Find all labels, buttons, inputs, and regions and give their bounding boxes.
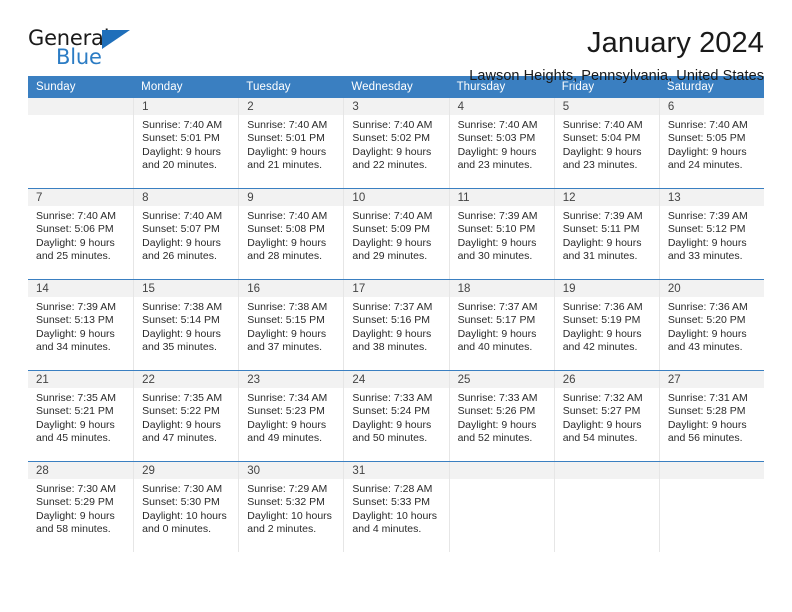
daylight-text-cont: and 23 minutes. <box>458 159 548 172</box>
calendar-cell: 9Sunrise: 7:40 AMSunset: 5:08 PMDaylight… <box>238 189 343 280</box>
day-details <box>450 479 554 483</box>
calendar-day[interactable]: 17Sunrise: 7:37 AMSunset: 5:16 PMDayligh… <box>343 280 448 370</box>
daylight-text: Daylight: 9 hours <box>352 328 442 341</box>
daylight-text: Daylight: 9 hours <box>668 328 758 341</box>
day-number: 9 <box>239 189 343 206</box>
sunset-text: Sunset: 5:14 PM <box>142 314 232 327</box>
daylight-text: Daylight: 9 hours <box>352 146 442 159</box>
calendar-cell: 15Sunrise: 7:38 AMSunset: 5:14 PMDayligh… <box>133 280 238 371</box>
sunset-text: Sunset: 5:07 PM <box>142 223 232 236</box>
day-number: 23 <box>239 371 343 388</box>
calendar-day[interactable]: 15Sunrise: 7:38 AMSunset: 5:14 PMDayligh… <box>133 280 238 370</box>
daylight-text: Daylight: 9 hours <box>142 146 232 159</box>
calendar-day[interactable]: 12Sunrise: 7:39 AMSunset: 5:11 PMDayligh… <box>554 189 659 279</box>
calendar-cell: 23Sunrise: 7:34 AMSunset: 5:23 PMDayligh… <box>238 371 343 462</box>
calendar-cell: 22Sunrise: 7:35 AMSunset: 5:22 PMDayligh… <box>133 371 238 462</box>
daylight-text: Daylight: 9 hours <box>142 237 232 250</box>
day-number: 1 <box>134 98 238 115</box>
daylight-text: Daylight: 9 hours <box>458 237 548 250</box>
sunset-text: Sunset: 5:01 PM <box>142 132 232 145</box>
day-details: Sunrise: 7:40 AMSunset: 5:05 PMDaylight:… <box>660 115 764 173</box>
calendar-day[interactable]: 5Sunrise: 7:40 AMSunset: 5:04 PMDaylight… <box>554 98 659 188</box>
calendar-day[interactable]: 22Sunrise: 7:35 AMSunset: 5:22 PMDayligh… <box>133 371 238 461</box>
day-number: 2 <box>239 98 343 115</box>
calendar-cell: 4Sunrise: 7:40 AMSunset: 5:03 PMDaylight… <box>449 98 554 189</box>
daylight-text-cont: and 35 minutes. <box>142 341 232 354</box>
sunrise-text: Sunrise: 7:39 AM <box>668 210 758 223</box>
daylight-text-cont: and 40 minutes. <box>458 341 548 354</box>
day-number: 3 <box>344 98 448 115</box>
sunrise-text: Sunrise: 7:39 AM <box>458 210 548 223</box>
daylight-text: Daylight: 9 hours <box>36 419 127 432</box>
calendar-day[interactable]: 10Sunrise: 7:40 AMSunset: 5:09 PMDayligh… <box>343 189 448 279</box>
daylight-text-cont: and 31 minutes. <box>563 250 653 263</box>
page-title: January 2024 <box>148 26 764 60</box>
triangle-icon <box>102 30 130 49</box>
day-number: 30 <box>239 462 343 479</box>
sunset-text: Sunset: 5:20 PM <box>668 314 758 327</box>
daylight-text-cont: and 24 minutes. <box>668 159 758 172</box>
daylight-text-cont: and 34 minutes. <box>36 341 127 354</box>
day-details <box>555 479 659 483</box>
calendar-cell <box>449 462 554 553</box>
calendar-day[interactable]: 25Sunrise: 7:33 AMSunset: 5:26 PMDayligh… <box>449 371 554 461</box>
calendar-day[interactable]: 6Sunrise: 7:40 AMSunset: 5:05 PMDaylight… <box>659 98 764 188</box>
calendar-cell: 5Sunrise: 7:40 AMSunset: 5:04 PMDaylight… <box>554 98 659 189</box>
sunset-text: Sunset: 5:11 PM <box>563 223 653 236</box>
day-details: Sunrise: 7:39 AMSunset: 5:10 PMDaylight:… <box>450 206 554 264</box>
daylight-text: Daylight: 9 hours <box>247 146 337 159</box>
day-number: 27 <box>660 371 764 388</box>
calendar-day-empty <box>28 98 133 188</box>
day-details: Sunrise: 7:40 AMSunset: 5:06 PMDaylight:… <box>28 206 133 264</box>
daylight-text: Daylight: 10 hours <box>247 510 337 523</box>
calendar-day[interactable]: 21Sunrise: 7:35 AMSunset: 5:21 PMDayligh… <box>28 371 133 461</box>
sunset-text: Sunset: 5:32 PM <box>247 496 337 509</box>
general-blue-logo[interactable]: General Blue <box>28 26 148 74</box>
sunrise-text: Sunrise: 7:36 AM <box>563 301 653 314</box>
daylight-text: Daylight: 9 hours <box>36 510 127 523</box>
sunrise-text: Sunrise: 7:40 AM <box>352 210 442 223</box>
day-details: Sunrise: 7:35 AMSunset: 5:22 PMDaylight:… <box>134 388 238 446</box>
calendar-cell: 2Sunrise: 7:40 AMSunset: 5:01 PMDaylight… <box>238 98 343 189</box>
daylight-text-cont: and 22 minutes. <box>352 159 442 172</box>
daylight-text-cont: and 0 minutes. <box>142 523 232 536</box>
daylight-text-cont: and 56 minutes. <box>668 432 758 445</box>
daylight-text: Daylight: 9 hours <box>458 146 548 159</box>
calendar-cell: 19Sunrise: 7:36 AMSunset: 5:19 PMDayligh… <box>554 280 659 371</box>
day-number: 22 <box>134 371 238 388</box>
calendar-day[interactable]: 1Sunrise: 7:40 AMSunset: 5:01 PMDaylight… <box>133 98 238 188</box>
day-details: Sunrise: 7:39 AMSunset: 5:12 PMDaylight:… <box>660 206 764 264</box>
day-number: 21 <box>28 371 133 388</box>
daylight-text: Daylight: 9 hours <box>352 237 442 250</box>
calendar-day[interactable]: 28Sunrise: 7:30 AMSunset: 5:29 PMDayligh… <box>28 462 133 552</box>
calendar-day[interactable]: 26Sunrise: 7:32 AMSunset: 5:27 PMDayligh… <box>554 371 659 461</box>
calendar-cell: 20Sunrise: 7:36 AMSunset: 5:20 PMDayligh… <box>659 280 764 371</box>
sunrise-sunset-calendar: Sunday Monday Tuesday Wednesday Thursday… <box>28 76 764 552</box>
sunset-text: Sunset: 5:27 PM <box>563 405 653 418</box>
logo-text-blue: Blue <box>56 45 102 69</box>
daylight-text: Daylight: 9 hours <box>36 237 127 250</box>
day-number: 11 <box>450 189 554 206</box>
day-details <box>28 115 133 119</box>
calendar-cell: 26Sunrise: 7:32 AMSunset: 5:27 PMDayligh… <box>554 371 659 462</box>
calendar-cell <box>28 98 133 189</box>
calendar-cell: 8Sunrise: 7:40 AMSunset: 5:07 PMDaylight… <box>133 189 238 280</box>
page-header: General Blue January 2024 Lawson Heights… <box>28 0 764 76</box>
sunrise-text: Sunrise: 7:30 AM <box>36 483 127 496</box>
sunrise-text: Sunrise: 7:38 AM <box>247 301 337 314</box>
calendar-cell: 10Sunrise: 7:40 AMSunset: 5:09 PMDayligh… <box>343 189 448 280</box>
daylight-text-cont: and 38 minutes. <box>352 341 442 354</box>
calendar-day[interactable]: 2Sunrise: 7:40 AMSunset: 5:01 PMDaylight… <box>238 98 343 188</box>
daylight-text: Daylight: 9 hours <box>668 237 758 250</box>
calendar-cell: 14Sunrise: 7:39 AMSunset: 5:13 PMDayligh… <box>28 280 133 371</box>
sunrise-text: Sunrise: 7:37 AM <box>352 301 442 314</box>
day-details: Sunrise: 7:37 AMSunset: 5:17 PMDaylight:… <box>450 297 554 355</box>
day-number: 20 <box>660 280 764 297</box>
sunrise-text: Sunrise: 7:31 AM <box>668 392 758 405</box>
sunset-text: Sunset: 5:04 PM <box>563 132 653 145</box>
calendar-cell <box>659 462 764 553</box>
day-number <box>555 462 659 479</box>
daylight-text-cont: and 33 minutes. <box>668 250 758 263</box>
calendar-day-empty <box>554 462 659 552</box>
calendar-cell: 11Sunrise: 7:39 AMSunset: 5:10 PMDayligh… <box>449 189 554 280</box>
sunrise-text: Sunrise: 7:40 AM <box>247 119 337 132</box>
calendar-day[interactable]: 14Sunrise: 7:39 AMSunset: 5:13 PMDayligh… <box>28 280 133 370</box>
day-details: Sunrise: 7:40 AMSunset: 5:03 PMDaylight:… <box>450 115 554 173</box>
sunset-text: Sunset: 5:23 PM <box>247 405 337 418</box>
daylight-text-cont: and 37 minutes. <box>247 341 337 354</box>
day-details: Sunrise: 7:38 AMSunset: 5:14 PMDaylight:… <box>134 297 238 355</box>
sunrise-text: Sunrise: 7:32 AM <box>563 392 653 405</box>
day-details: Sunrise: 7:30 AMSunset: 5:30 PMDaylight:… <box>134 479 238 537</box>
sunrise-text: Sunrise: 7:28 AM <box>352 483 442 496</box>
day-number: 12 <box>555 189 659 206</box>
sunset-text: Sunset: 5:30 PM <box>142 496 232 509</box>
sunset-text: Sunset: 5:28 PM <box>668 405 758 418</box>
sunrise-text: Sunrise: 7:40 AM <box>668 119 758 132</box>
daylight-text: Daylight: 9 hours <box>563 419 653 432</box>
daylight-text-cont: and 4 minutes. <box>352 523 442 536</box>
sunrise-text: Sunrise: 7:34 AM <box>247 392 337 405</box>
weekday-header-sunday: Sunday <box>28 76 133 98</box>
day-details: Sunrise: 7:40 AMSunset: 5:01 PMDaylight:… <box>239 115 343 173</box>
day-number: 31 <box>344 462 448 479</box>
day-details: Sunrise: 7:40 AMSunset: 5:07 PMDaylight:… <box>134 206 238 264</box>
calendar-day[interactable]: 3Sunrise: 7:40 AMSunset: 5:02 PMDaylight… <box>343 98 448 188</box>
calendar-cell: 1Sunrise: 7:40 AMSunset: 5:01 PMDaylight… <box>133 98 238 189</box>
day-number: 16 <box>239 280 343 297</box>
calendar-week-row: 14Sunrise: 7:39 AMSunset: 5:13 PMDayligh… <box>28 280 764 371</box>
calendar-cell <box>554 462 659 553</box>
day-details: Sunrise: 7:40 AMSunset: 5:04 PMDaylight:… <box>555 115 659 173</box>
calendar-cell: 25Sunrise: 7:33 AMSunset: 5:26 PMDayligh… <box>449 371 554 462</box>
daylight-text-cont: and 49 minutes. <box>247 432 337 445</box>
calendar-week-row: 21Sunrise: 7:35 AMSunset: 5:21 PMDayligh… <box>28 371 764 462</box>
daylight-text-cont: and 2 minutes. <box>247 523 337 536</box>
daylight-text-cont: and 42 minutes. <box>563 341 653 354</box>
calendar-week-row: 28Sunrise: 7:30 AMSunset: 5:29 PMDayligh… <box>28 462 764 553</box>
calendar-day[interactable]: 24Sunrise: 7:33 AMSunset: 5:24 PMDayligh… <box>343 371 448 461</box>
day-details: Sunrise: 7:37 AMSunset: 5:16 PMDaylight:… <box>344 297 448 355</box>
calendar-week-row: 7Sunrise: 7:40 AMSunset: 5:06 PMDaylight… <box>28 189 764 280</box>
day-details: Sunrise: 7:30 AMSunset: 5:29 PMDaylight:… <box>28 479 133 537</box>
sunset-text: Sunset: 5:05 PM <box>668 132 758 145</box>
calendar-cell: 24Sunrise: 7:33 AMSunset: 5:24 PMDayligh… <box>343 371 448 462</box>
day-details: Sunrise: 7:36 AMSunset: 5:20 PMDaylight:… <box>660 297 764 355</box>
calendar-cell: 6Sunrise: 7:40 AMSunset: 5:05 PMDaylight… <box>659 98 764 189</box>
day-number: 15 <box>134 280 238 297</box>
calendar-day[interactable]: 29Sunrise: 7:30 AMSunset: 5:30 PMDayligh… <box>133 462 238 552</box>
daylight-text: Daylight: 9 hours <box>458 419 548 432</box>
sunrise-text: Sunrise: 7:29 AM <box>247 483 337 496</box>
calendar-cell: 16Sunrise: 7:38 AMSunset: 5:15 PMDayligh… <box>238 280 343 371</box>
day-details: Sunrise: 7:38 AMSunset: 5:15 PMDaylight:… <box>239 297 343 355</box>
daylight-text-cont: and 43 minutes. <box>668 341 758 354</box>
sunset-text: Sunset: 5:02 PM <box>352 132 442 145</box>
calendar-day[interactable]: 31Sunrise: 7:28 AMSunset: 5:33 PMDayligh… <box>343 462 448 552</box>
sunrise-text: Sunrise: 7:40 AM <box>142 119 232 132</box>
day-details: Sunrise: 7:39 AMSunset: 5:11 PMDaylight:… <box>555 206 659 264</box>
calendar-cell: 28Sunrise: 7:30 AMSunset: 5:29 PMDayligh… <box>28 462 133 553</box>
daylight-text: Daylight: 9 hours <box>142 328 232 341</box>
daylight-text: Daylight: 9 hours <box>563 146 653 159</box>
daylight-text-cont: and 45 minutes. <box>36 432 127 445</box>
calendar-day[interactable]: 16Sunrise: 7:38 AMSunset: 5:15 PMDayligh… <box>238 280 343 370</box>
day-number: 8 <box>134 189 238 206</box>
day-number: 10 <box>344 189 448 206</box>
sunset-text: Sunset: 5:17 PM <box>458 314 548 327</box>
day-details: Sunrise: 7:40 AMSunset: 5:01 PMDaylight:… <box>134 115 238 173</box>
daylight-text-cont: and 26 minutes. <box>142 250 232 263</box>
calendar-cell: 3Sunrise: 7:40 AMSunset: 5:02 PMDaylight… <box>343 98 448 189</box>
day-number: 14 <box>28 280 133 297</box>
day-number: 18 <box>450 280 554 297</box>
day-number: 19 <box>555 280 659 297</box>
daylight-text-cont: and 30 minutes. <box>458 250 548 263</box>
daylight-text: Daylight: 10 hours <box>352 510 442 523</box>
calendar-day[interactable]: 11Sunrise: 7:39 AMSunset: 5:10 PMDayligh… <box>449 189 554 279</box>
sunset-text: Sunset: 5:21 PM <box>36 405 127 418</box>
daylight-text: Daylight: 9 hours <box>36 328 127 341</box>
sunset-text: Sunset: 5:06 PM <box>36 223 127 236</box>
sunset-text: Sunset: 5:08 PM <box>247 223 337 236</box>
calendar-cell: 27Sunrise: 7:31 AMSunset: 5:28 PMDayligh… <box>659 371 764 462</box>
sunset-text: Sunset: 5:19 PM <box>563 314 653 327</box>
day-details: Sunrise: 7:40 AMSunset: 5:09 PMDaylight:… <box>344 206 448 264</box>
sunset-text: Sunset: 5:15 PM <box>247 314 337 327</box>
calendar-cell: 17Sunrise: 7:37 AMSunset: 5:16 PMDayligh… <box>343 280 448 371</box>
day-number: 4 <box>450 98 554 115</box>
daylight-text: Daylight: 9 hours <box>563 328 653 341</box>
sunrise-text: Sunrise: 7:40 AM <box>352 119 442 132</box>
sunrise-text: Sunrise: 7:40 AM <box>142 210 232 223</box>
daylight-text: Daylight: 9 hours <box>563 237 653 250</box>
calendar-day-empty <box>449 462 554 552</box>
calendar-day[interactable]: 13Sunrise: 7:39 AMSunset: 5:12 PMDayligh… <box>659 189 764 279</box>
sunset-text: Sunset: 5:26 PM <box>458 405 548 418</box>
sunrise-text: Sunrise: 7:40 AM <box>36 210 127 223</box>
calendar-cell: 31Sunrise: 7:28 AMSunset: 5:33 PMDayligh… <box>343 462 448 553</box>
daylight-text: Daylight: 9 hours <box>247 419 337 432</box>
sunset-text: Sunset: 5:01 PM <box>247 132 337 145</box>
title-block: January 2024 Lawson Heights, Pennsylvani… <box>148 26 764 86</box>
sunset-text: Sunset: 5:03 PM <box>458 132 548 145</box>
sunrise-text: Sunrise: 7:35 AM <box>36 392 127 405</box>
day-details: Sunrise: 7:40 AMSunset: 5:02 PMDaylight:… <box>344 115 448 173</box>
sunrise-text: Sunrise: 7:33 AM <box>352 392 442 405</box>
calendar-day[interactable]: 9Sunrise: 7:40 AMSunset: 5:08 PMDaylight… <box>238 189 343 279</box>
calendar-cell: 7Sunrise: 7:40 AMSunset: 5:06 PMDaylight… <box>28 189 133 280</box>
day-details: Sunrise: 7:33 AMSunset: 5:24 PMDaylight:… <box>344 388 448 446</box>
daylight-text: Daylight: 9 hours <box>668 419 758 432</box>
daylight-text: Daylight: 9 hours <box>247 237 337 250</box>
day-number: 28 <box>28 462 133 479</box>
calendar-day[interactable]: 23Sunrise: 7:34 AMSunset: 5:23 PMDayligh… <box>238 371 343 461</box>
sunrise-text: Sunrise: 7:33 AM <box>458 392 548 405</box>
day-details: Sunrise: 7:36 AMSunset: 5:19 PMDaylight:… <box>555 297 659 355</box>
day-details: Sunrise: 7:32 AMSunset: 5:27 PMDaylight:… <box>555 388 659 446</box>
day-details: Sunrise: 7:35 AMSunset: 5:21 PMDaylight:… <box>28 388 133 446</box>
day-number <box>28 98 133 115</box>
day-number: 29 <box>134 462 238 479</box>
day-number: 25 <box>450 371 554 388</box>
sunset-text: Sunset: 5:10 PM <box>458 223 548 236</box>
sunrise-text: Sunrise: 7:37 AM <box>458 301 548 314</box>
sunrise-text: Sunrise: 7:40 AM <box>563 119 653 132</box>
sunset-text: Sunset: 5:33 PM <box>352 496 442 509</box>
daylight-text-cont: and 29 minutes. <box>352 250 442 263</box>
calendar-day[interactable]: 18Sunrise: 7:37 AMSunset: 5:17 PMDayligh… <box>449 280 554 370</box>
day-details: Sunrise: 7:31 AMSunset: 5:28 PMDaylight:… <box>660 388 764 446</box>
sunset-text: Sunset: 5:29 PM <box>36 496 127 509</box>
calendar-week-row: 1Sunrise: 7:40 AMSunset: 5:01 PMDaylight… <box>28 98 764 189</box>
day-number: 26 <box>555 371 659 388</box>
daylight-text-cont: and 25 minutes. <box>36 250 127 263</box>
daylight-text: Daylight: 10 hours <box>142 510 232 523</box>
day-number: 6 <box>660 98 764 115</box>
day-number: 24 <box>344 371 448 388</box>
sunrise-text: Sunrise: 7:40 AM <box>247 210 337 223</box>
sunset-text: Sunset: 5:16 PM <box>352 314 442 327</box>
sunrise-text: Sunrise: 7:38 AM <box>142 301 232 314</box>
daylight-text-cont: and 50 minutes. <box>352 432 442 445</box>
calendar-day[interactable]: 30Sunrise: 7:29 AMSunset: 5:32 PMDayligh… <box>238 462 343 552</box>
calendar-day[interactable]: 27Sunrise: 7:31 AMSunset: 5:28 PMDayligh… <box>659 371 764 461</box>
daylight-text-cont: and 58 minutes. <box>36 523 127 536</box>
day-details: Sunrise: 7:39 AMSunset: 5:13 PMDaylight:… <box>28 297 133 355</box>
day-number: 5 <box>555 98 659 115</box>
calendar-day[interactable]: 19Sunrise: 7:36 AMSunset: 5:19 PMDayligh… <box>554 280 659 370</box>
calendar-cell: 29Sunrise: 7:30 AMSunset: 5:30 PMDayligh… <box>133 462 238 553</box>
day-number: 17 <box>344 280 448 297</box>
daylight-text: Daylight: 9 hours <box>458 328 548 341</box>
sunset-text: Sunset: 5:09 PM <box>352 223 442 236</box>
day-details: Sunrise: 7:40 AMSunset: 5:08 PMDaylight:… <box>239 206 343 264</box>
sunrise-text: Sunrise: 7:30 AM <box>142 483 232 496</box>
calendar-cell: 30Sunrise: 7:29 AMSunset: 5:32 PMDayligh… <box>238 462 343 553</box>
calendar-cell: 18Sunrise: 7:37 AMSunset: 5:17 PMDayligh… <box>449 280 554 371</box>
sunset-text: Sunset: 5:13 PM <box>36 314 127 327</box>
sunset-text: Sunset: 5:24 PM <box>352 405 442 418</box>
calendar-cell: 21Sunrise: 7:35 AMSunset: 5:21 PMDayligh… <box>28 371 133 462</box>
daylight-text-cont: and 52 minutes. <box>458 432 548 445</box>
calendar-body: 1Sunrise: 7:40 AMSunset: 5:01 PMDaylight… <box>28 98 764 552</box>
sunrise-text: Sunrise: 7:36 AM <box>668 301 758 314</box>
sunrise-text: Sunrise: 7:39 AM <box>36 301 127 314</box>
calendar-day[interactable]: 4Sunrise: 7:40 AMSunset: 5:03 PMDaylight… <box>449 98 554 188</box>
calendar-day[interactable]: 8Sunrise: 7:40 AMSunset: 5:07 PMDaylight… <box>133 189 238 279</box>
daylight-text-cont: and 21 minutes. <box>247 159 337 172</box>
calendar-cell: 13Sunrise: 7:39 AMSunset: 5:12 PMDayligh… <box>659 189 764 280</box>
sunset-text: Sunset: 5:22 PM <box>142 405 232 418</box>
daylight-text: Daylight: 9 hours <box>352 419 442 432</box>
sunrise-text: Sunrise: 7:35 AM <box>142 392 232 405</box>
daylight-text: Daylight: 9 hours <box>668 146 758 159</box>
daylight-text-cont: and 54 minutes. <box>563 432 653 445</box>
sunrise-text: Sunrise: 7:40 AM <box>458 119 548 132</box>
calendar-day[interactable]: 7Sunrise: 7:40 AMSunset: 5:06 PMDaylight… <box>28 189 133 279</box>
calendar-cell: 12Sunrise: 7:39 AMSunset: 5:11 PMDayligh… <box>554 189 659 280</box>
sunset-text: Sunset: 5:12 PM <box>668 223 758 236</box>
daylight-text: Daylight: 9 hours <box>142 419 232 432</box>
day-details: Sunrise: 7:28 AMSunset: 5:33 PMDaylight:… <box>344 479 448 537</box>
day-number <box>660 462 764 479</box>
daylight-text-cont: and 28 minutes. <box>247 250 337 263</box>
day-details: Sunrise: 7:34 AMSunset: 5:23 PMDaylight:… <box>239 388 343 446</box>
day-details: Sunrise: 7:29 AMSunset: 5:32 PMDaylight:… <box>239 479 343 537</box>
day-details <box>660 479 764 483</box>
daylight-text-cont: and 23 minutes. <box>563 159 653 172</box>
day-number: 13 <box>660 189 764 206</box>
daylight-text: Daylight: 9 hours <box>247 328 337 341</box>
day-details: Sunrise: 7:33 AMSunset: 5:26 PMDaylight:… <box>450 388 554 446</box>
calendar-day[interactable]: 20Sunrise: 7:36 AMSunset: 5:20 PMDayligh… <box>659 280 764 370</box>
daylight-text-cont: and 20 minutes. <box>142 159 232 172</box>
sunrise-text: Sunrise: 7:39 AM <box>563 210 653 223</box>
calendar-page: General Blue January 2024 Lawson Heights… <box>0 0 792 612</box>
day-number: 7 <box>28 189 133 206</box>
calendar-day-empty <box>659 462 764 552</box>
day-number <box>450 462 554 479</box>
daylight-text-cont: and 47 minutes. <box>142 432 232 445</box>
